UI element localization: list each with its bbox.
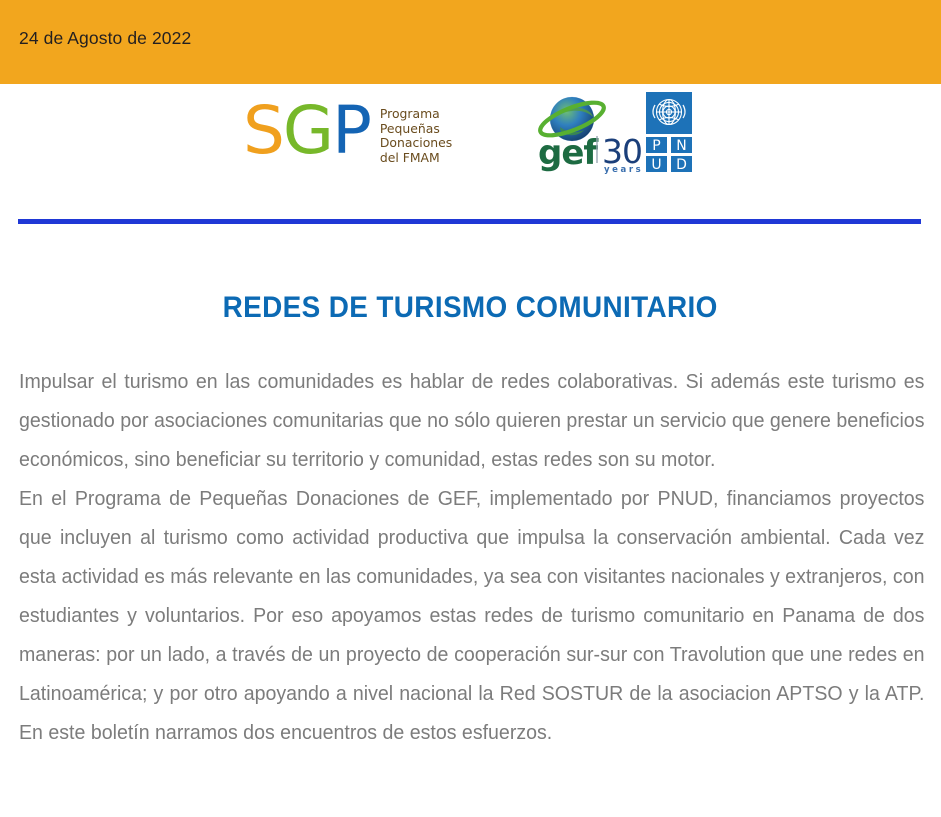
logo-strip: SGP Programa Pequeñas Donaciones del FMA… <box>0 84 941 209</box>
sgp-subtitle-line-4: del FMAM <box>380 151 452 166</box>
sgp-letter-p: P <box>332 98 370 164</box>
body-copy: Impulsar el turismo en las comunidades e… <box>0 362 941 752</box>
sgp-logo: SGP Programa Pequeñas Donaciones del FMA… <box>243 97 452 165</box>
sgp-subtitle-line-2: Pequeñas <box>380 122 452 137</box>
sgp-subtitle-line-1: Programa <box>380 107 452 122</box>
paragraph-1: Impulsar el turismo en las comunidades e… <box>19 362 924 479</box>
divider-wrap <box>0 209 941 235</box>
paragraph-2: En el Programa de Pequeñas Donaciones de… <box>19 479 924 752</box>
sgp-letter-g: G <box>283 98 332 164</box>
pnud-letter-n: N <box>676 138 686 154</box>
pnud-logo: P N U D <box>646 92 692 172</box>
sgp-subtitle: Programa Pequeñas Donaciones del FMAM <box>380 107 452 165</box>
pnud-letter-d: D <box>676 157 687 172</box>
pnud-letter-p: P <box>652 138 660 154</box>
sgp-wordmark: SGP <box>243 98 370 164</box>
header-bar: 24 de Agosto de 2022 <box>0 0 941 84</box>
title-wrap: REDES DE TURISMO COMUNITARIO <box>0 235 941 362</box>
gef-logo: gef 30 years <box>536 92 648 174</box>
gef-years-text: years <box>604 165 643 174</box>
sgp-subtitle-line-3: Donaciones <box>380 136 452 151</box>
header-date: 24 de Agosto de 2022 <box>0 28 191 49</box>
sgp-letter-s: S <box>243 98 283 164</box>
un-emblem-icon <box>657 100 682 125</box>
section-divider <box>18 219 921 224</box>
page-title: REDES DE TURISMO COMUNITARIO <box>223 291 718 325</box>
pnud-letter-u: U <box>651 157 661 172</box>
gef-wordmark-text: gef <box>538 133 599 173</box>
